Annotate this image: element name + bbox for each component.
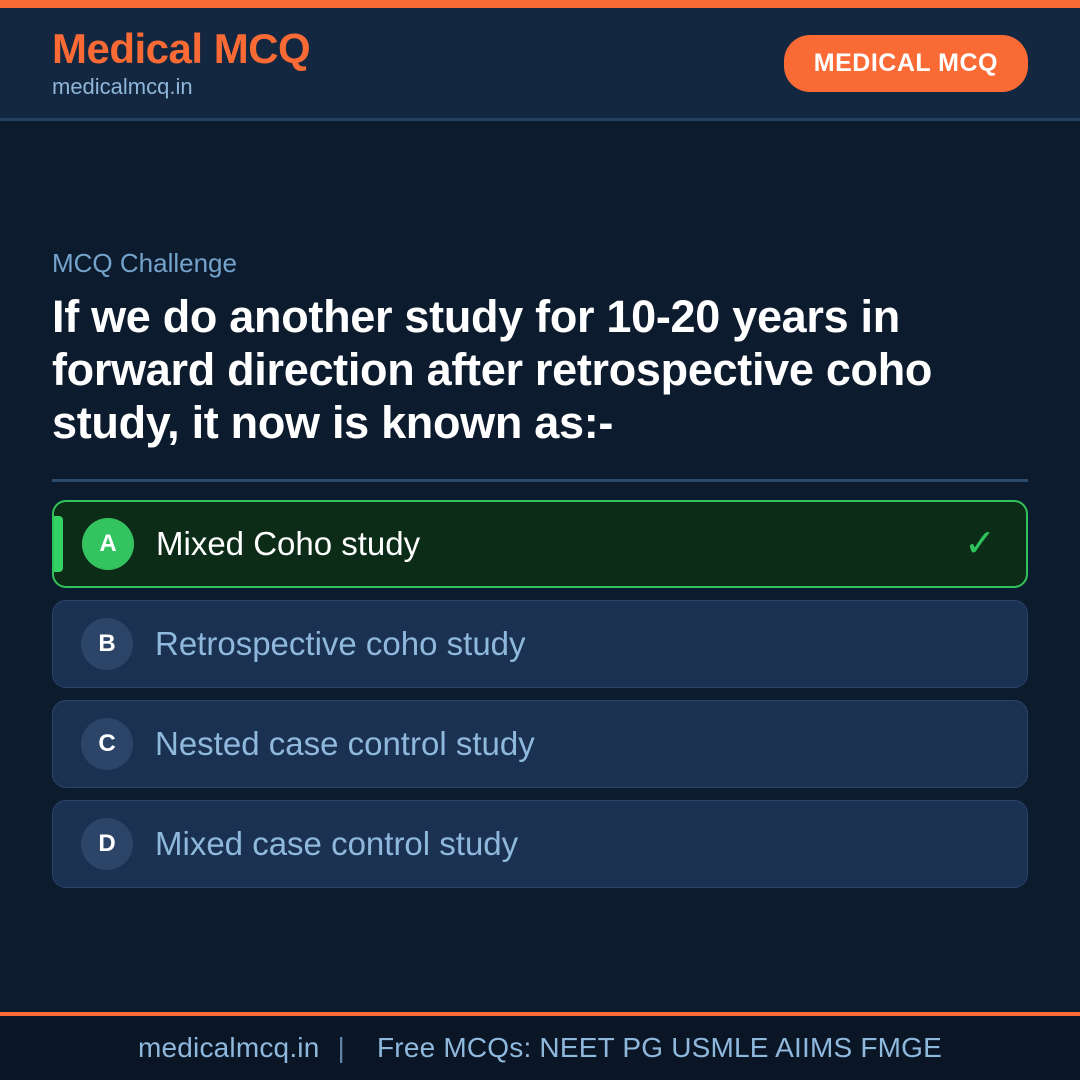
option-row-b[interactable]: B Retrospective coho study ✓ xyxy=(52,600,1028,688)
main-content: MCQ Challenge If we do another study for… xyxy=(0,121,1080,1012)
footer-separator: | xyxy=(320,1032,363,1064)
eyebrow-label: MCQ Challenge xyxy=(52,249,1028,278)
option-letter-badge-a: A xyxy=(82,518,134,570)
option-row-a[interactable]: A Mixed Coho study ✓ xyxy=(52,500,1028,588)
question-text: If we do another study for 10-20 years i… xyxy=(52,290,1002,449)
top-accent-bar xyxy=(0,0,1080,8)
mcq-card: Medical MCQ medicalmcq.in MEDICAL MCQ MC… xyxy=(0,0,1080,1080)
option-letter-badge-d: D xyxy=(81,818,133,870)
option-letter-badge-b: B xyxy=(81,618,133,670)
brand-subtitle: medicalmcq.in xyxy=(52,75,310,99)
option-text-a: Mixed Coho study xyxy=(156,526,964,562)
option-row-d[interactable]: D Mixed case control study ✓ xyxy=(52,800,1028,888)
header-badge-pill: MEDICAL MCQ xyxy=(784,35,1028,92)
option-letter-badge-c: C xyxy=(81,718,133,770)
header: Medical MCQ medicalmcq.in MEDICAL MCQ xyxy=(0,8,1080,121)
option-text-d: Mixed case control study xyxy=(155,826,965,862)
option-text-c: Nested case control study xyxy=(155,726,965,762)
brand-title: Medical MCQ xyxy=(52,27,310,71)
footer-exams: Free MCQs: NEET PG USMLE AIIMS FMGE xyxy=(363,1032,942,1064)
check-icon: ✓ xyxy=(964,525,996,563)
option-row-c[interactable]: C Nested case control study ✓ xyxy=(52,700,1028,788)
brand-block: Medical MCQ medicalmcq.in xyxy=(52,27,310,99)
footer: medicalmcq.in | Free MCQs: NEET PG USMLE… xyxy=(0,1016,1080,1080)
options-list: A Mixed Coho study ✓ B Retrospective coh… xyxy=(52,500,1028,888)
question-divider xyxy=(52,479,1028,482)
option-text-b: Retrospective coho study xyxy=(155,626,965,662)
footer-site: medicalmcq.in xyxy=(138,1032,320,1064)
correct-accent-bar xyxy=(54,516,63,572)
